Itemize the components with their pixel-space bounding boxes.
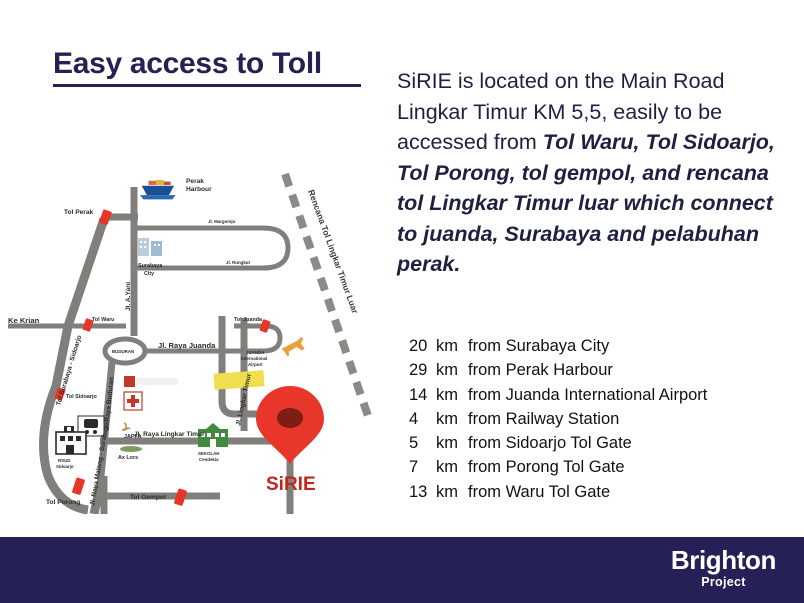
toll-gate-label-waru: Tol Waru [92, 317, 114, 323]
toll-gate-label-gempol: Tol Gempol [130, 494, 166, 501]
distance-row: 20 km from Surabaya City [409, 334, 794, 358]
brand-name-pre: Bright [671, 545, 745, 575]
place-label-surabaya-city: Surabaya [138, 263, 163, 269]
planned-toll-dashed-road [285, 174, 368, 416]
distance-row: 29 km from Perak Harbour [409, 358, 794, 382]
road-label-raya-lingkar-timur: Jl. Raya Lingkar Timur [134, 431, 205, 438]
place-label-perak-harbour: Perak [186, 178, 204, 185]
axlors-logo [120, 446, 142, 452]
distance-destination: from Railway Station [468, 407, 794, 431]
brand-lockup: Brighton Project [671, 546, 776, 590]
page-title: Easy access to Toll [53, 47, 322, 81]
planned-toll-label: Rencana Tol Lingkar Timur Luar [306, 188, 360, 315]
distance-value: 14 [409, 383, 436, 407]
brand-name: Brighton [671, 546, 776, 575]
distance-unit: km [436, 334, 468, 358]
toll-gate-marker-porong [72, 477, 86, 495]
distance-value: 7 [409, 455, 436, 479]
brand-subtitle: Project [671, 575, 776, 590]
distance-list: 20 km from Surabaya City 29 km from Pera… [409, 334, 794, 504]
place-label-juanda-airport: JUANDA [246, 350, 265, 355]
distance-row: 13 km from Waru Tol Gate [409, 480, 794, 504]
toll-gate-label-perak: Tol Perak [64, 209, 94, 216]
road-label-rungkut: Jl. Rungkut [226, 260, 250, 265]
sirie-map-pin [256, 386, 324, 464]
distance-value: 4 [409, 407, 436, 431]
toll-gate-marker-gempol [174, 488, 188, 506]
toll-gate-marker-perak [99, 209, 112, 225]
location-map: Perak Harbour Surabaya City JUANDA Inter… [8, 86, 396, 514]
distance-destination: from Porong Tol Gate [468, 455, 794, 479]
place-label-sekolah-2: Cendekia [199, 457, 219, 462]
place-label-sekolah: SEKOLAH [198, 451, 219, 456]
toll-gate-label-sidoarjo: Tol Sidoarjo [66, 394, 97, 400]
distance-destination: from Waru Tol Gate [468, 480, 794, 504]
road-label-a-yani: Jl. A.Yani [125, 282, 132, 311]
distance-row: 4 km from Railway Station [409, 407, 794, 431]
distance-value: 29 [409, 358, 436, 382]
distance-unit: km [436, 455, 468, 479]
distance-value: 20 [409, 334, 436, 358]
distance-unit: km [436, 383, 468, 407]
distance-row: 14 km from Juanda International Airport [409, 383, 794, 407]
distance-unit: km [436, 480, 468, 504]
place-label-surabaya-city-2: City [144, 271, 154, 277]
footer-bar: Brighton Project [0, 537, 804, 603]
place-label-axlors: Ax Lors [118, 455, 138, 461]
sirie-map-label: SiRIE [266, 474, 316, 495]
place-label-rsud-sidoarjo-2: Sidoarjo [56, 464, 74, 469]
place-label-juanda-airport-3: Airport [248, 362, 263, 367]
clinic-icon [124, 392, 142, 410]
road-label-margorejo: Jl. Margorejo [208, 219, 236, 224]
city-buildings-icon [138, 238, 162, 256]
toll-gate-label-porong: Tol Porong [46, 499, 80, 506]
brand-accent-o-icon: o [745, 546, 760, 575]
toll-gate-label-juanda: Tol Juanda [234, 317, 263, 323]
brand-name-post: n [761, 545, 776, 575]
distance-unit: km [436, 407, 468, 431]
distance-value: 13 [409, 480, 436, 504]
distance-unit: km [436, 431, 468, 455]
distance-destination: from Juanda International Airport [468, 383, 794, 407]
direction-label-ke-krian: Ke Krian [8, 316, 40, 325]
distance-destination: from Perak Harbour [468, 358, 794, 382]
bank-logo-icon [124, 376, 178, 387]
distance-destination: from Surabaya City [468, 334, 794, 358]
road-label-raya-juanda: Jl. Raya Juanda [158, 341, 216, 350]
roundabout-label: BUDURAN [112, 349, 134, 354]
distance-value: 5 [409, 431, 436, 455]
place-label-rsud-sidoarjo: RSUD [58, 458, 70, 463]
airplane-icon [280, 337, 307, 358]
distance-row: 7 km from Porong Tol Gate [409, 455, 794, 479]
place-label-perak-harbour-2: Harbour [186, 186, 212, 193]
location-description: SiRIE is located on the Main Road Lingka… [397, 66, 793, 280]
distance-unit: km [436, 358, 468, 382]
distance-destination: from Sidoarjo Tol Gate [468, 431, 794, 455]
distance-row: 5 km from Sidoarjo Tol Gate [409, 431, 794, 455]
place-label-juanda-airport-2: International [241, 356, 267, 361]
ship-icon [140, 180, 176, 200]
japfa-logo [122, 423, 130, 430]
